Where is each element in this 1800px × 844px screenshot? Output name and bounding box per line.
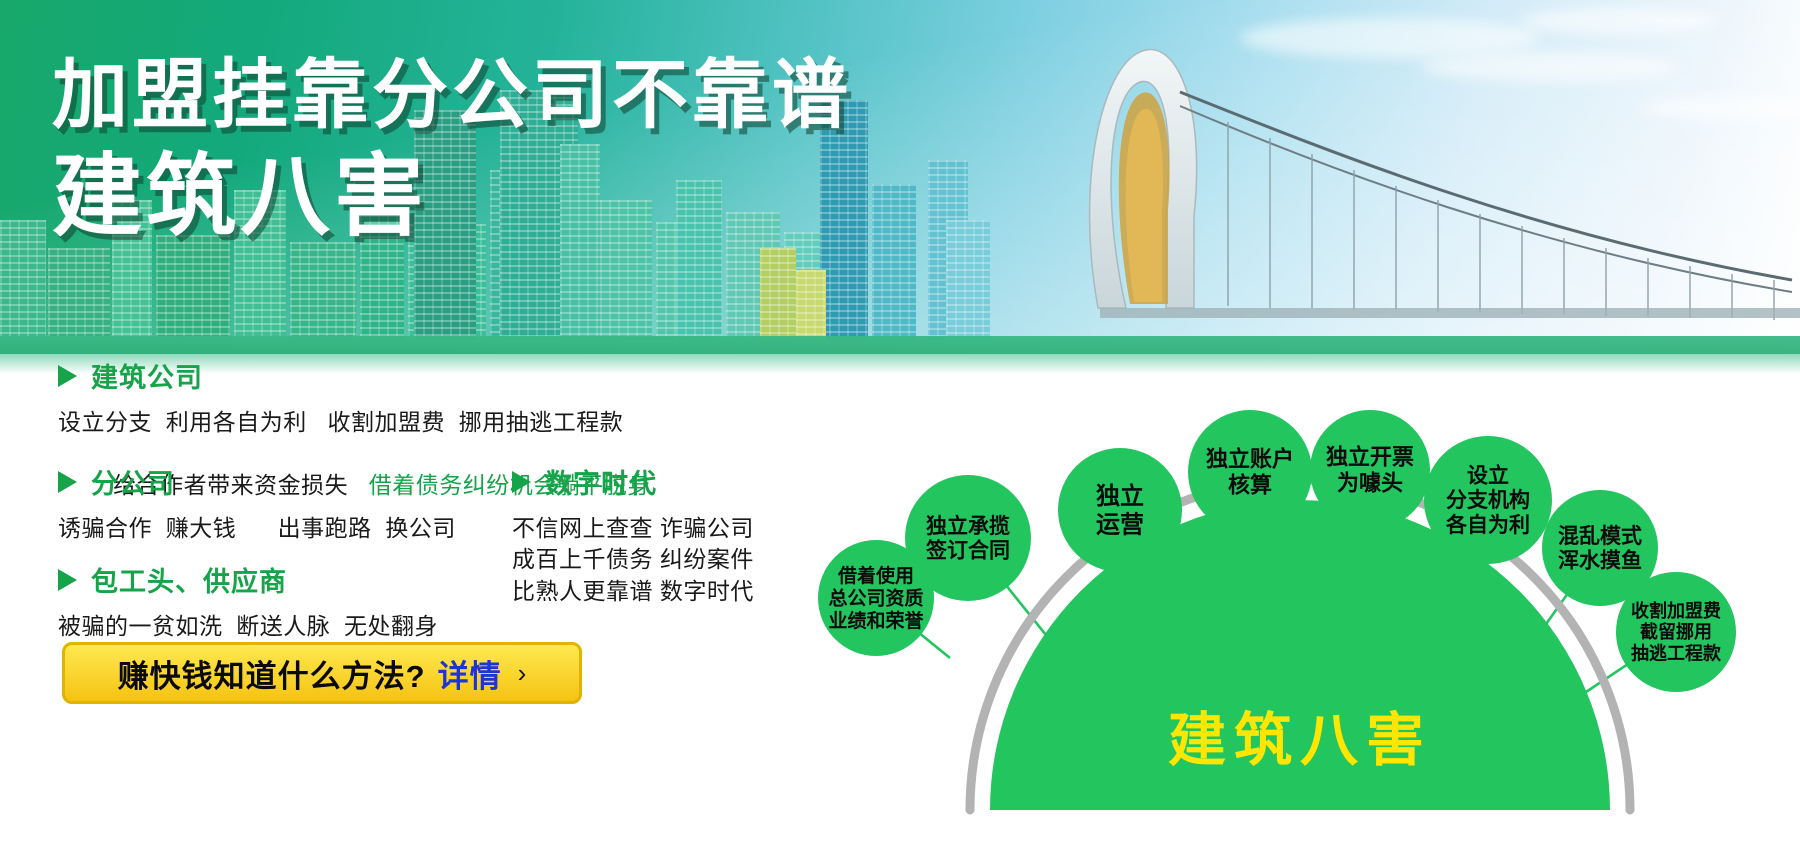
bubble-label-line: 浑水摸鱼 (1558, 549, 1642, 573)
hero-banner: 加盟挂靠分公司不靠谱 建筑八害 (0, 0, 1800, 374)
bubble-diagram: 建筑八害 借着使用总公司资质业绩和荣誉独立承揽签订合同独立运营独立账户核算独立开… (800, 340, 1800, 844)
bubble-label-line: 运营 (1096, 511, 1144, 538)
triangle-bullet-icon (58, 471, 77, 493)
section-heading: 分公司 (58, 462, 456, 501)
bubble-circle-2[interactable] (905, 475, 1031, 601)
triangle-bullet-icon (58, 569, 77, 591)
chevron-right-icon: › (518, 658, 527, 689)
section-title: 包工头、供应商 (91, 560, 287, 599)
bubble-label-line: 核算 (1228, 472, 1272, 497)
section-title: 建筑公司 (91, 356, 203, 395)
bubble-label-line: 各自为利 (1445, 513, 1530, 537)
hero-title-group: 加盟挂靠分公司不靠谱 建筑八害 (52, 58, 852, 242)
section-branch-company: 分公司 诱骗合作 赚大钱 出事跑路 换公司 (58, 462, 456, 544)
cta-detail-link[interactable]: 详情 (438, 651, 502, 696)
bubble-label-line: 混乱模式 (1558, 524, 1642, 548)
bubble-label-line: 总公司资质 (828, 586, 923, 609)
hero-title-line1: 加盟挂靠分公司不靠谱 (52, 58, 852, 134)
bubble-label-line: 为噱头 (1337, 470, 1403, 495)
section-line-1: 不信网上查查 诈骗公司 (512, 513, 754, 544)
poster-root: 加盟挂靠分公司不靠谱 建筑八害 建筑公司 设立分支 利用各自为利 收割加盟费 挪… (0, 0, 1800, 844)
bubble-label-line: 分支机构 (1446, 488, 1530, 512)
cta-button[interactable]: 赚快钱知道什么方法? 详情 › (62, 642, 582, 704)
left-content: 建筑公司 设立分支 利用各自为利 收割加盟费 挪用抽逃工程款 给合作者带来资金损… (0, 374, 810, 844)
bubble-label-line: 独立开票 (1326, 445, 1414, 470)
bubble-label-line: 签订合同 (925, 539, 1010, 563)
bubble-label-line: 业绩和荣誉 (828, 609, 924, 632)
section-title: 数字时代 (545, 462, 657, 501)
bubble-label-line: 独立账户 (1206, 447, 1294, 472)
bubble-label-line: 截留挪用 (1640, 621, 1712, 642)
section-line-3: 比熟人更靠谱 数字时代 (512, 576, 754, 607)
dome-label: 建筑八害 (1168, 708, 1432, 773)
section-digital-era: 数字时代 不信网上查查 诈骗公司 成百上千债务 纠纷案件 比熟人更靠谱 数字时代 (512, 462, 754, 607)
section-line-1: 设立分支 利用各自为利 收割加盟费 挪用抽逃工程款 (58, 407, 651, 438)
cloud-shape (1520, 8, 1720, 34)
section-line-2: 成百上千债务 纠纷案件 (512, 544, 754, 575)
triangle-bullet-icon (512, 471, 531, 493)
section-heading: 包工头、供应商 (58, 560, 438, 599)
bubble-label-line: 独立 (1096, 482, 1144, 510)
bubble-label-line: 借着使用 (837, 564, 914, 587)
section-line-1: 被骗的一贫如洗 断送人脉 无处翻身 (58, 611, 438, 642)
section-heading: 数字时代 (512, 462, 754, 501)
section-title: 分公司 (91, 462, 175, 501)
bubble-label-line: 收割加盟费 (1631, 600, 1721, 621)
bubble-label-line: 抽逃工程款 (1631, 642, 1722, 663)
section-line-1: 诱骗合作 赚大钱 出事跑路 换公司 (58, 513, 456, 544)
bubble-label-line: 设立 (1467, 463, 1509, 487)
cta-question-label: 赚快钱知道什么方法? (118, 651, 426, 696)
bubble-circle-3[interactable] (1058, 448, 1182, 572)
bubble-label-line: 独立承揽 (926, 514, 1010, 538)
section-contractor-supplier: 包工头、供应商 被骗的一贫如洗 断送人脉 无处翻身 (58, 560, 438, 642)
hero-title-line2: 建筑八害 (52, 152, 852, 242)
section-heading: 建筑公司 (58, 356, 651, 395)
bridge-illustration (980, 36, 1800, 336)
triangle-bullet-icon (58, 365, 77, 387)
